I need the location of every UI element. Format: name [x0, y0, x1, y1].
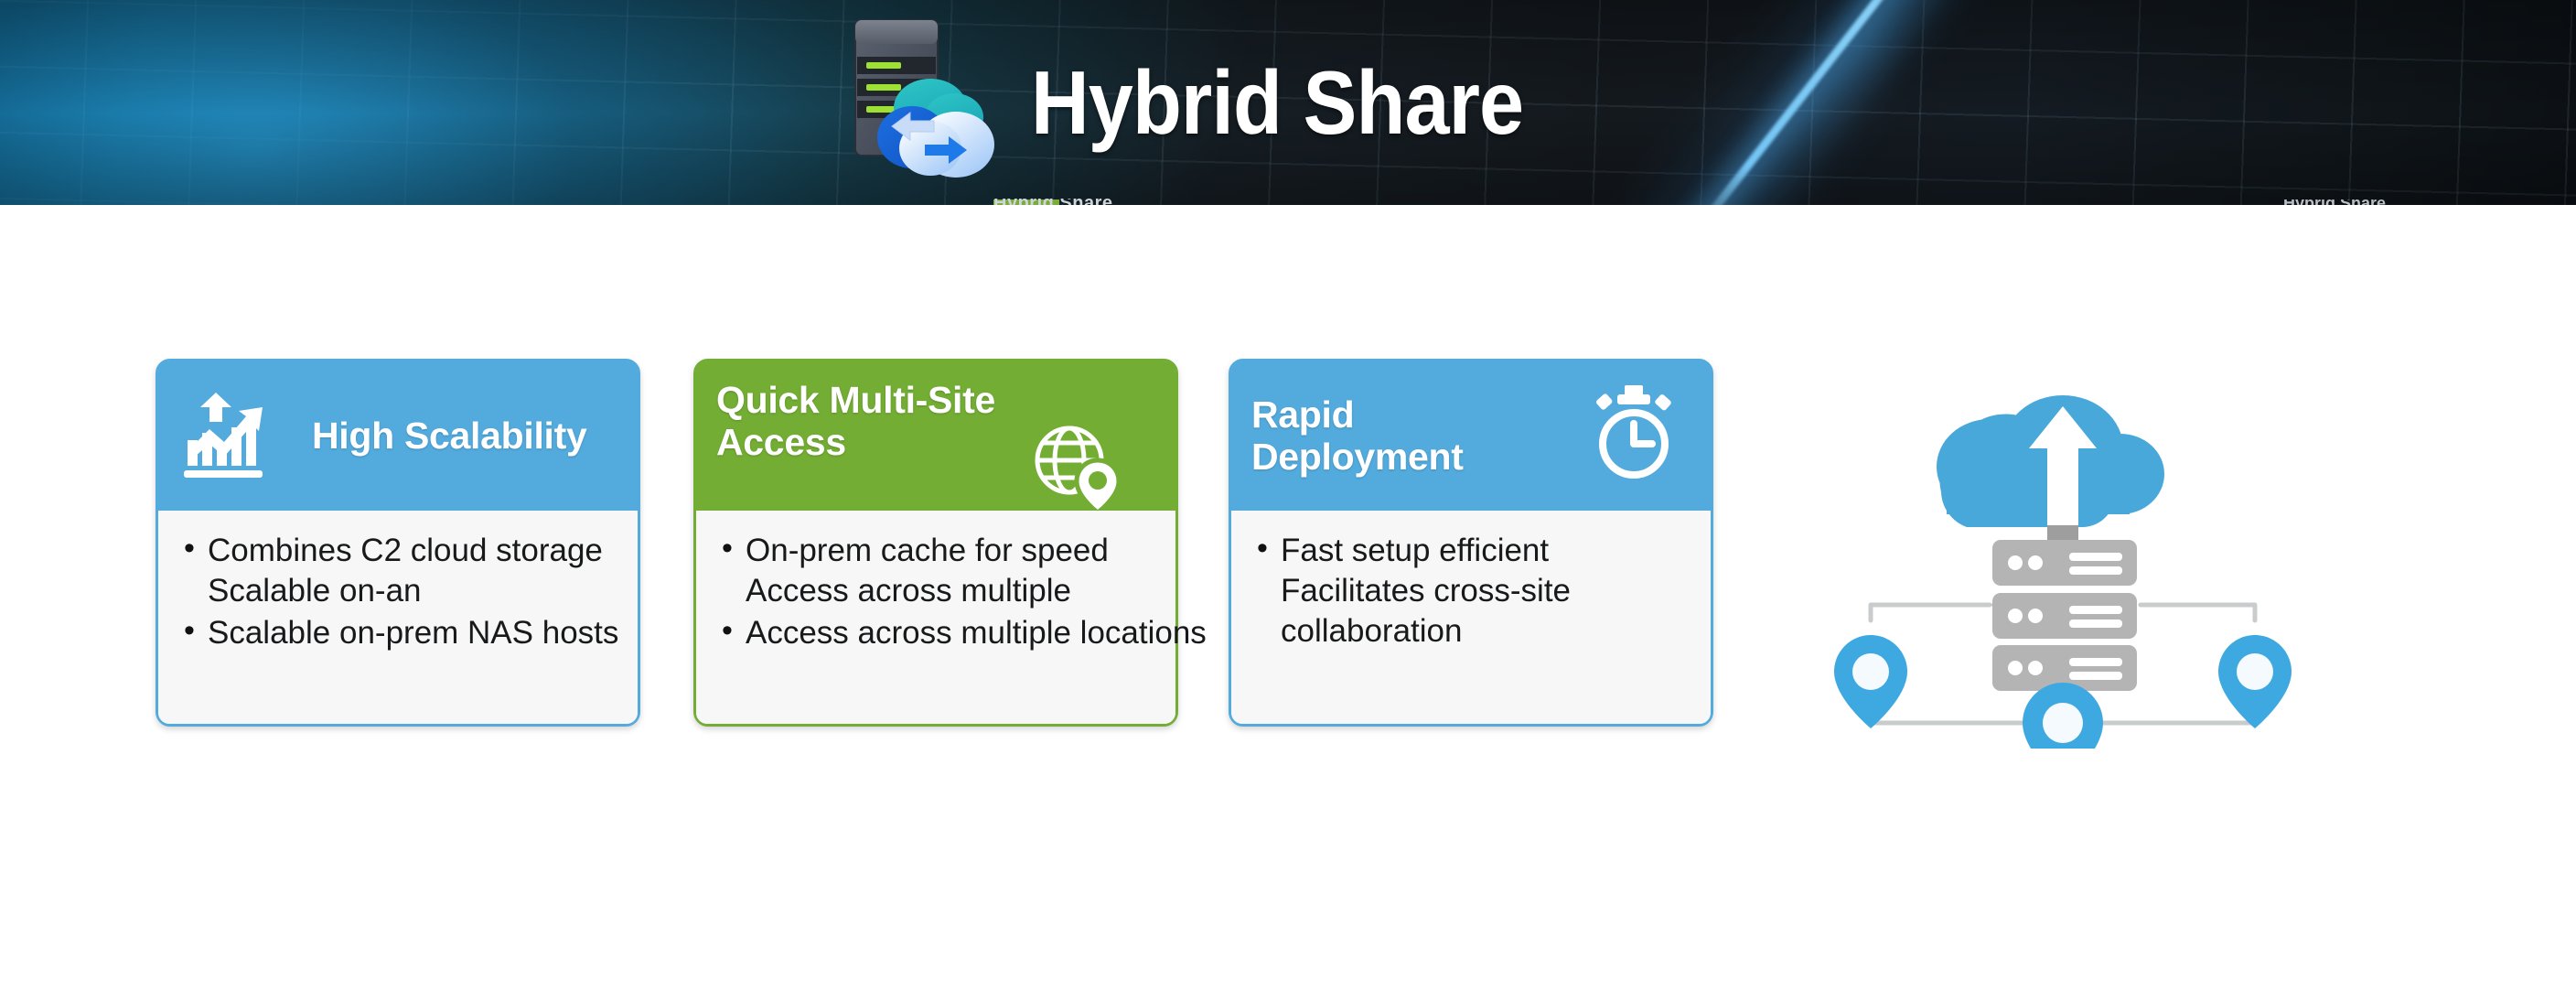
card-bullet-list: Combines C2 cloud storage Scalable on-an… — [182, 531, 619, 653]
card-header: Rapid Deployment — [1231, 361, 1711, 511]
bar-chart-growth-icon — [178, 383, 281, 489]
globe-location-pin-icon — [1029, 420, 1124, 511]
card-title: Quick Multi-Site Access — [716, 380, 1046, 464]
card-body: Fast setup efficient Facilitates cross-s… — [1231, 511, 1711, 724]
banner-clipped-text-right: Hybrid Share — [2283, 199, 2521, 205]
card-bullet-list: On-prem cache for speed Access across mu… — [720, 531, 1157, 653]
card-title: Rapid Deployment — [1251, 394, 1526, 479]
list-item: Access across multiple locations — [720, 613, 1157, 653]
hybrid-cloud-topology-diagram — [1830, 346, 2296, 749]
list-item: Scalable on-prem NAS hosts — [182, 613, 619, 653]
stopwatch-icon — [1588, 383, 1680, 487]
feature-card-quick-multi-site-access[interactable]: Quick Multi-Site Access On-prem cache fo… — [693, 359, 1178, 727]
header-banner: Hybrid Share Hybrid Share — [0, 0, 2576, 205]
server-rack-icon — [1992, 593, 2137, 639]
feature-card-high-scalability[interactable]: High Scalability Combines C2 cloud stora… — [156, 359, 640, 727]
list-item: On-prem cache for speed Access across mu… — [720, 531, 1157, 611]
feature-card-rapid-deployment[interactable]: Rapid Deployment Fast setup efficient Fa… — [1229, 359, 1713, 727]
card-title: High Scalability — [312, 415, 587, 458]
server-cloud-sync-icon — [846, 9, 1011, 197]
banner-clipped-text-left: Hybrid Share — [993, 199, 1341, 205]
list-item: Combines C2 cloud storage Scalable on-an — [182, 531, 619, 611]
location-pin-icon — [2218, 635, 2292, 728]
location-pin-icon — [1834, 635, 1907, 728]
page-title: Hybrid Share — [1031, 51, 1523, 155]
card-header: Quick Multi-Site Access — [696, 361, 1175, 511]
card-body: Combines C2 cloud storage Scalable on-an… — [158, 511, 638, 724]
location-pin-icon — [2023, 683, 2103, 749]
card-header: High Scalability — [158, 361, 638, 511]
card-body: On-prem cache for speed Access across mu… — [696, 511, 1175, 724]
brand-lockup: Hybrid Share — [846, 9, 1578, 197]
list-item: Fast setup efficient Facilitates cross-s… — [1255, 531, 1692, 652]
card-bullet-list: Fast setup efficient Facilitates cross-s… — [1255, 531, 1692, 652]
server-rack-icon — [1992, 540, 2137, 586]
